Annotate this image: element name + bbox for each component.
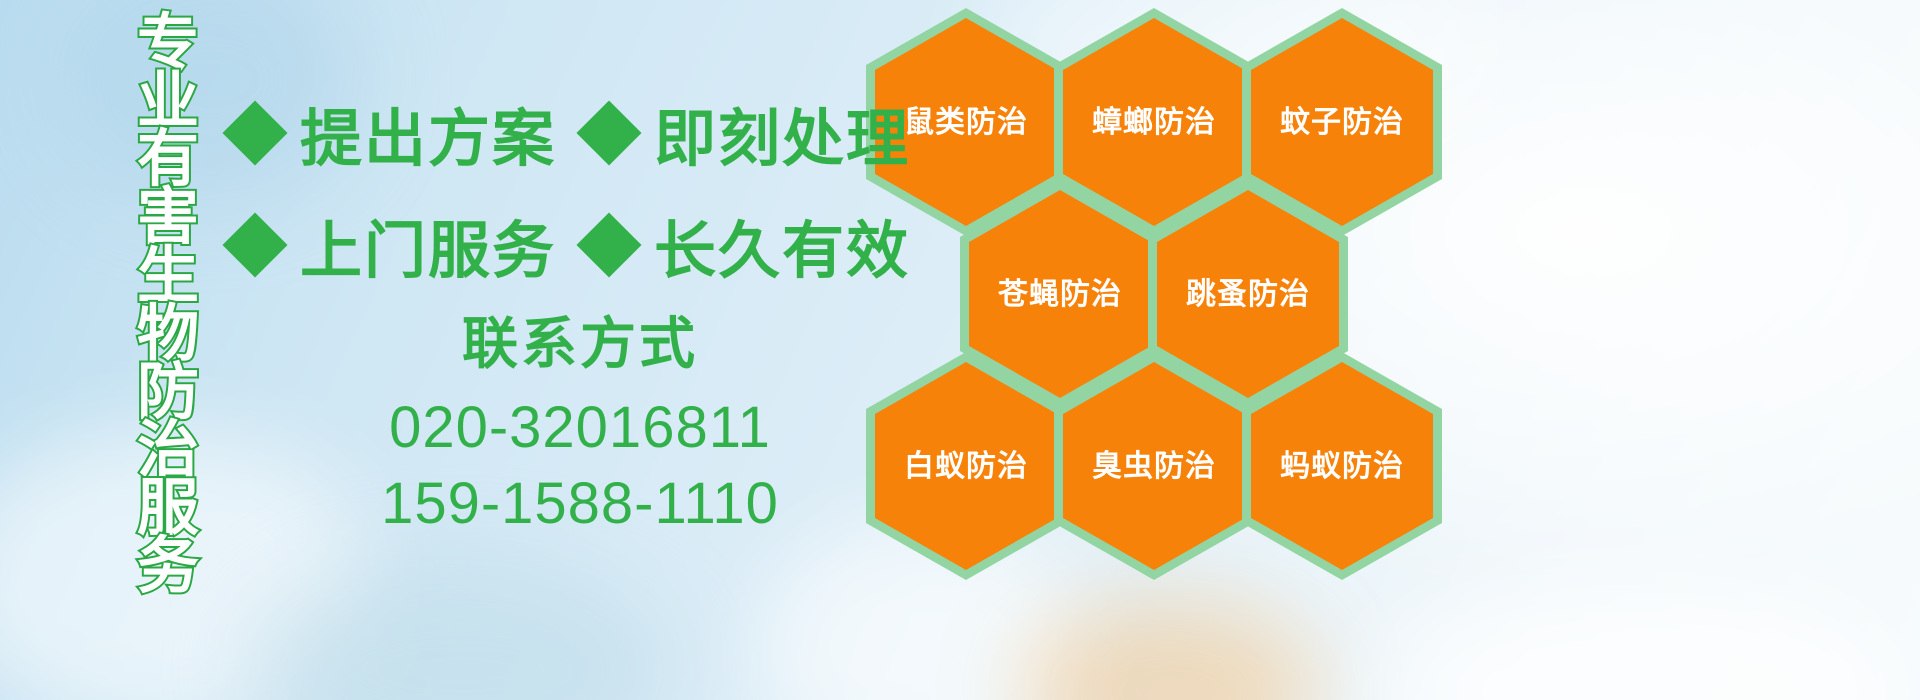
feature-label-onsite-service: 上门服务 — [300, 200, 556, 290]
vertical-headline-char: 害 — [137, 188, 199, 248]
pest-control-banner: 专 业 有 害 生 物 防 治 服 务 提出方案 即刻处理 上门服务 长久有效 … — [0, 0, 1920, 700]
vertical-headline-char: 治 — [137, 421, 199, 481]
diamond-icon — [576, 100, 641, 165]
vertical-headline-char: 服 — [137, 479, 199, 539]
diamond-icon — [576, 212, 641, 277]
contact-heading: 联系方式 — [300, 312, 860, 376]
vertical-headline-char: 生 — [137, 247, 199, 307]
feature-label-propose-plan: 提出方案 — [300, 88, 556, 178]
feature-row-2: 上门服务 长久有效 — [232, 200, 910, 290]
diamond-icon — [222, 100, 287, 165]
service-hex-label: 蟑螂防治 — [1092, 106, 1216, 139]
service-hex-label: 蚂蚁防治 — [1280, 450, 1404, 483]
background-blob — [1380, 580, 1900, 700]
service-hexagon-grid: 鼠类防治 蟑螂防治 蚊子防治 苍蝇防治 跳蚤防治 白蚁防治 臭虫防治 蚂蚁 — [856, 0, 1456, 700]
feature-label-long-lasting: 长久有效 — [654, 200, 910, 290]
service-hex-label: 蚊子防治 — [1280, 106, 1404, 139]
contact-phone-mobile[interactable]: 159-1588-1110 — [300, 466, 860, 541]
vertical-headline: 专 业 有 害 生 物 防 治 服 务 — [108, 14, 228, 686]
contact-block: 联系方式 020-32016811 159-1588-1110 — [300, 312, 860, 541]
vertical-headline-char: 物 — [137, 305, 199, 365]
service-hex-label: 白蚁防治 — [904, 450, 1028, 483]
service-hex-label: 苍蝇防治 — [998, 278, 1122, 311]
feature-label-immediate-handling: 即刻处理 — [654, 88, 910, 178]
contact-phone-landline[interactable]: 020-32016811 — [300, 390, 860, 465]
feature-row-1: 提出方案 即刻处理 — [232, 88, 910, 178]
vertical-headline-char: 有 — [137, 130, 199, 190]
background-blob — [250, 560, 670, 700]
diamond-icon — [222, 212, 287, 277]
service-hex-label: 跳蚤防治 — [1186, 278, 1310, 311]
vertical-headline-char: 务 — [137, 537, 199, 597]
vertical-headline-char: 专 — [137, 14, 199, 74]
service-hex-label: 臭虫防治 — [1092, 450, 1216, 483]
vertical-headline-char: 防 — [137, 363, 199, 423]
service-hex-label: 鼠类防治 — [904, 106, 1028, 139]
vertical-headline-char: 业 — [137, 72, 199, 132]
